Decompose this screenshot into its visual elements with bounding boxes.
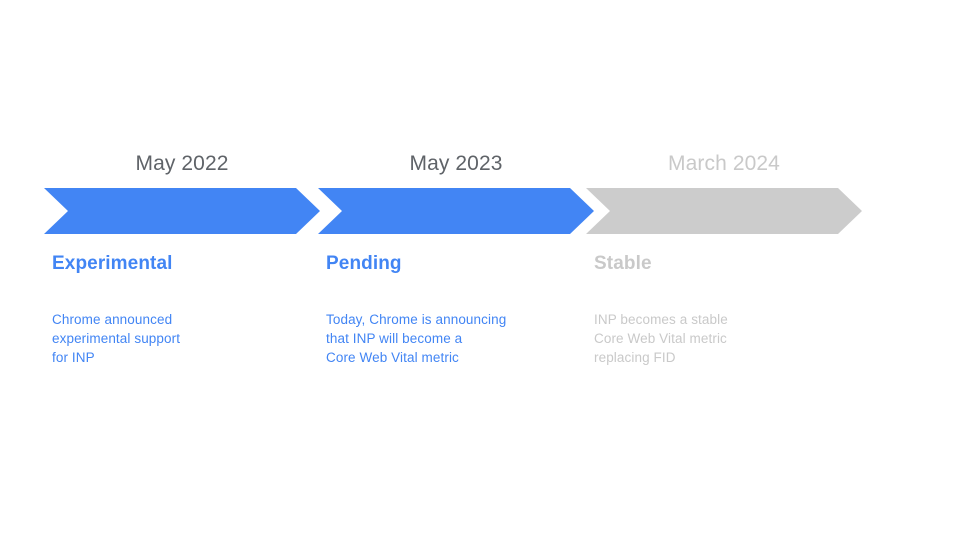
timeline-stage-description: Today, Chrome is announcing that INP wil… (326, 310, 594, 368)
timeline-stage-date: May 2023 (318, 150, 594, 178)
chevron-arrow-shape (586, 188, 862, 234)
timeline-arrow-pending (318, 188, 594, 234)
timeline-stage-date: March 2024 (586, 150, 862, 178)
chevron-arrow-shape (318, 188, 594, 234)
timeline-stage-title: Pending (326, 252, 402, 276)
chevron-arrow-shape (44, 188, 320, 234)
timeline-stage-description: Chrome announced experimental support fo… (52, 310, 320, 368)
chevron-arrow-icon (44, 188, 320, 234)
timeline-diagram: May 2022 Experimental Chrome announced e… (0, 0, 960, 540)
timeline-stage-date: May 2022 (44, 150, 320, 178)
timeline-arrow-stable (586, 188, 862, 234)
timeline-stage-title: Stable (594, 252, 652, 276)
chevron-arrow-icon (318, 188, 594, 234)
chevron-arrow-icon (586, 188, 862, 234)
timeline-arrow-experimental (44, 188, 320, 234)
timeline-stage-title: Experimental (52, 252, 173, 276)
timeline-stage-description: INP becomes a stable Core Web Vital metr… (594, 310, 862, 368)
